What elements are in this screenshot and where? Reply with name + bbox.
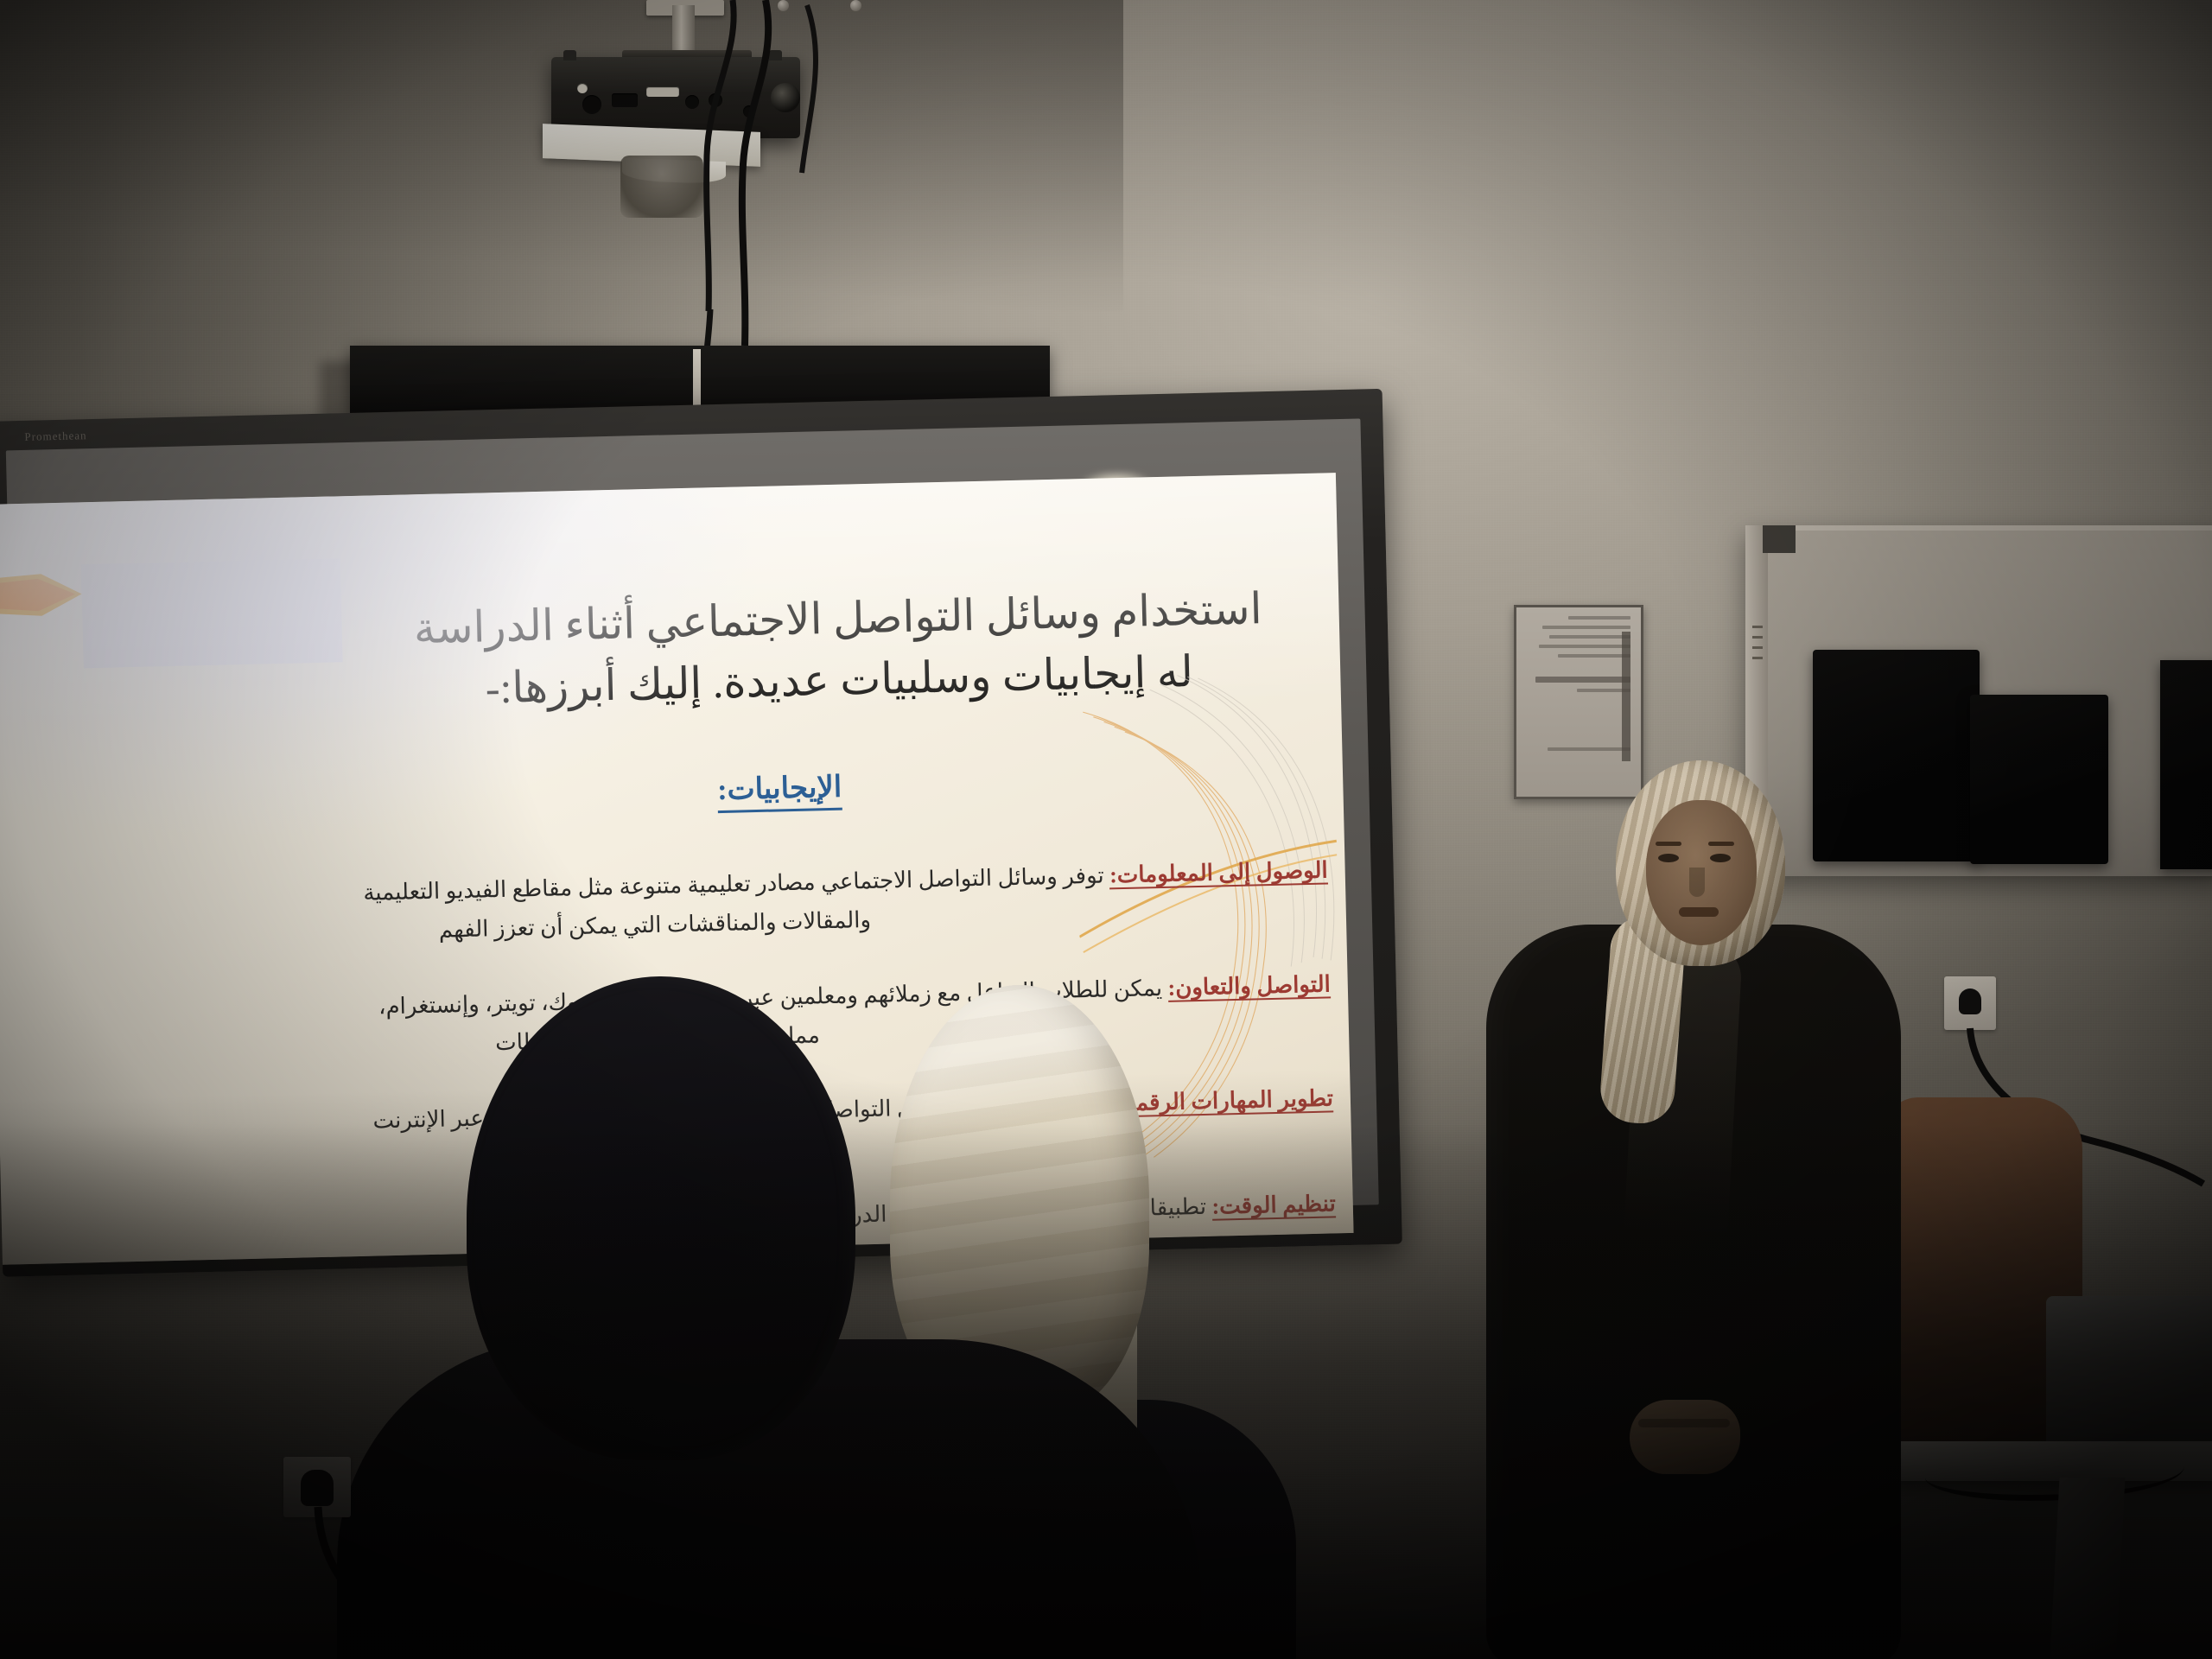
presenter-brow-left	[1656, 842, 1681, 846]
whiteboard-brand-label: Promethean	[24, 429, 86, 444]
notice-title-line	[1535, 677, 1630, 683]
slide-section-heading: الإيجابيات:	[717, 770, 842, 813]
notice-text-line	[1539, 645, 1630, 648]
notice-text-line	[1542, 626, 1630, 629]
projector-knob-left	[563, 50, 576, 60]
power-plug-left	[301, 1470, 334, 1506]
left-socket-cable	[285, 1503, 510, 1659]
notice-side-bar	[1622, 632, 1630, 761]
presenter-nose	[1689, 868, 1705, 897]
cabinet-post-cap	[1763, 525, 1796, 553]
slide-bullet-1-body: توفر وسائل التواصل الاجتماعي مصادر تعليم…	[363, 862, 1109, 905]
cabinet-vents	[1752, 626, 1763, 667]
presenter-brow-right	[1708, 842, 1734, 846]
presenter-mouth	[1679, 907, 1719, 917]
soundbar-divider	[693, 349, 701, 413]
presenter-eye-left	[1658, 854, 1679, 862]
notice-footer-line	[1548, 747, 1630, 751]
desk-leg	[2050, 1478, 2125, 1659]
laptop-power-cable	[1925, 1443, 2184, 1501]
silver-laptop[interactable]	[2046, 1296, 2212, 1450]
monitor-3	[2160, 660, 2212, 869]
presenter-clasped-hands	[1630, 1400, 1740, 1474]
notice-text-line	[1568, 616, 1630, 620]
power-plug-right	[1959, 988, 1981, 1014]
classroom-scene: Promethean استخدام وسائل التواصل الاجتما…	[0, 0, 2212, 1659]
orange-diamond-arrow-logo	[0, 569, 94, 620]
notice-text-line	[1558, 654, 1630, 658]
projector-port-round-1	[582, 95, 601, 114]
slide-light-patch	[81, 558, 343, 668]
presenter-face	[1646, 800, 1757, 945]
student-a-rim-light	[467, 976, 855, 1460]
projector-indicator-led	[577, 83, 588, 93]
notice-text-line	[1549, 635, 1630, 639]
projector-port-hdmi	[612, 93, 638, 107]
presenter-eye-right	[1710, 854, 1731, 862]
presenter-person	[1460, 760, 1927, 1659]
slide-bullet-1-lead: الوصول إلى المعلومات:	[1109, 857, 1328, 889]
monitor-2	[1970, 695, 2108, 864]
